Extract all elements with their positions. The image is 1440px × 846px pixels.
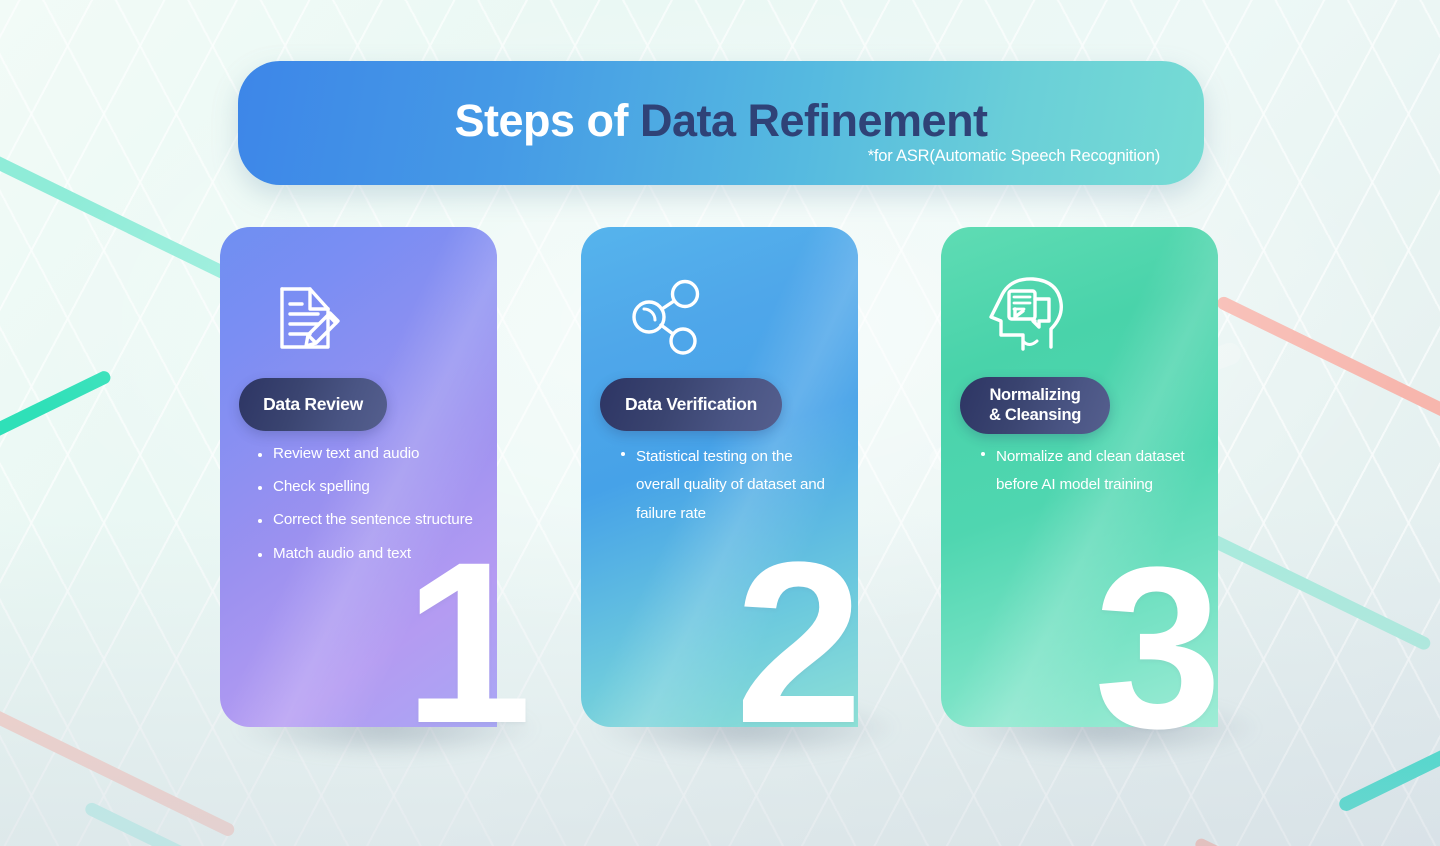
decor-stripe-teal-top <box>0 129 248 290</box>
step-card-data-review[interactable]: Data Review Review text and audio Check … <box>220 227 497 727</box>
infographic-canvas: Steps of Data Refinement *for ASR(Automa… <box>0 0 1440 846</box>
page-title-light: Steps of <box>454 95 640 146</box>
card-1-bullet-list: Review text and audio Check spelling Cor… <box>258 444 480 577</box>
list-item: Check spelling <box>258 477 480 497</box>
page-title: Steps of Data Refinement <box>238 95 1204 147</box>
step-label-pill-2[interactable]: Data Verification <box>600 378 782 431</box>
step-label-text-3: Normalizing & Cleansing <box>989 386 1081 425</box>
step-label-line-1: Normalizing <box>989 386 1080 404</box>
decor-stripe-pink-right <box>1215 295 1440 451</box>
share-network-icon <box>619 269 711 361</box>
decor-stripe-pink-bottom <box>1193 837 1440 846</box>
card-3-bullet-list: Normalize and clean dataset before AI mo… <box>981 443 1199 500</box>
page-subtitle: *for ASR(Automatic Speech Recognition) <box>868 147 1160 166</box>
decor-stripe-green-bottom <box>1337 695 1440 813</box>
list-item: Match audio and text <box>258 544 480 564</box>
decor-stripe-cyan-bottom <box>83 801 304 846</box>
step-card-normalizing-cleansing[interactable]: Normalizing & Cleansing Normalize and cl… <box>941 227 1218 727</box>
page-title-dark: Data Refinement <box>640 95 988 146</box>
decor-stripe-pink-left <box>0 669 236 838</box>
list-item: Statistical testing on the overall quali… <box>621 443 839 528</box>
step-label-text-2: Data Verification <box>625 394 757 415</box>
head-speech-bubble-icon <box>979 269 1071 361</box>
card-2-bullet-list: Statistical testing on the overall quali… <box>621 443 839 528</box>
header-banner: Steps of Data Refinement *for ASR(Automa… <box>238 61 1204 185</box>
list-item: Normalize and clean dataset before AI mo… <box>981 443 1199 500</box>
decor-stripe-teal-left <box>0 369 113 468</box>
step-label-line-2: & Cleansing <box>989 406 1081 424</box>
list-item: Review text and audio <box>258 444 480 464</box>
step-label-pill-3[interactable]: Normalizing & Cleansing <box>960 377 1110 434</box>
step-label-text-1: Data Review <box>263 394 363 415</box>
list-item: Correct the sentence structure <box>258 510 480 530</box>
step-label-pill-1[interactable]: Data Review <box>239 378 387 431</box>
document-pencil-icon <box>258 269 350 361</box>
step-card-data-verification[interactable]: Data Verification Statistical testing on… <box>581 227 858 727</box>
